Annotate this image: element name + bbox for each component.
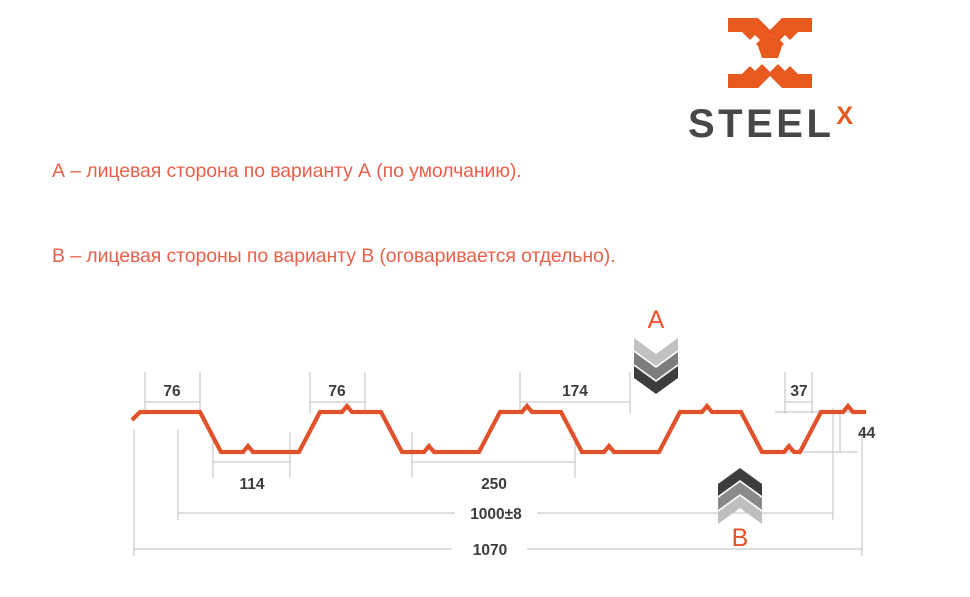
dim-label-250: 250 bbox=[481, 476, 507, 493]
direction-marker-a-label: A bbox=[628, 308, 684, 336]
dim-label-1000: 1000±8 bbox=[470, 506, 522, 523]
dim-label-174: 174 bbox=[562, 383, 588, 400]
dim-label-76-left: 76 bbox=[163, 383, 181, 400]
direction-marker-a: A bbox=[628, 308, 684, 394]
dim-label-37: 37 bbox=[790, 383, 807, 400]
chevron-down-icon bbox=[628, 336, 684, 394]
diagram-page: STEEL X А – лицевая сторона по варианту … bbox=[0, 0, 970, 597]
sheet-profile-path bbox=[132, 406, 866, 452]
dim-label-114: 114 bbox=[239, 476, 264, 493]
profile-technical-drawing: 76 76 174 37 114 250 1000±8 1070 44 bbox=[0, 0, 970, 597]
dim-label-44: 44 bbox=[858, 425, 876, 442]
dim-label-1070: 1070 bbox=[473, 542, 507, 559]
dim-label-76-mid: 76 bbox=[328, 383, 346, 400]
direction-marker-b: B bbox=[712, 468, 768, 554]
direction-marker-b-label: B bbox=[712, 526, 768, 554]
chevron-up-icon bbox=[712, 468, 768, 526]
